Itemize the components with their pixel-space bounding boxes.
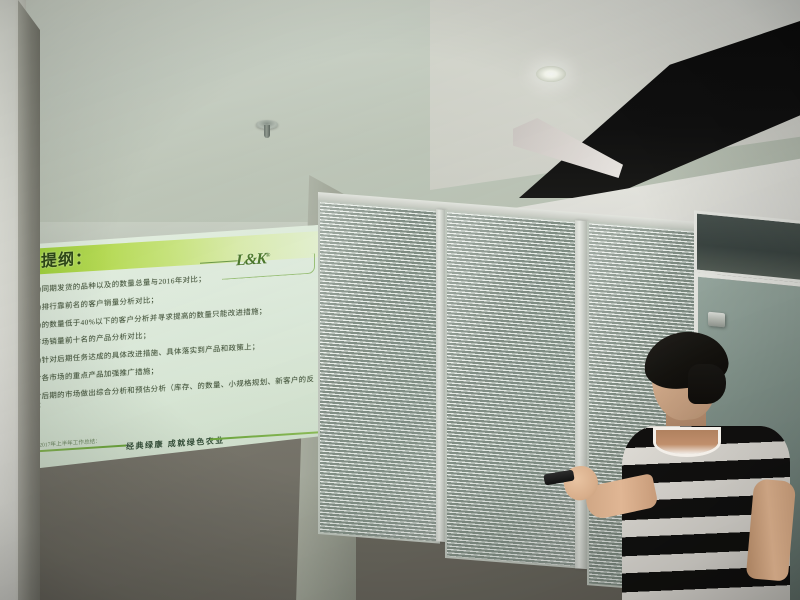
left-wall-pillar-edge <box>18 0 40 600</box>
shirt-collar <box>656 430 718 454</box>
slide-content: 报提纲： L&K® 市场同期发货的品种以及的数量总量与2016年对比； 市场排行… <box>14 225 319 471</box>
glass-panel <box>445 210 579 569</box>
window-mullion <box>575 220 587 569</box>
slide-bullet-list: 市场同期发货的品种以及的数量总量与2016年对比； 市场排行靠前名的客户销量分析… <box>26 267 319 419</box>
person-hair-side <box>688 364 726 404</box>
fire-sprinkler-icon <box>256 120 278 142</box>
registered-mark-icon: ® <box>266 253 269 259</box>
presenter-person <box>600 330 800 600</box>
venetian-blinds[interactable] <box>447 212 577 566</box>
projected-slide: 报提纲： L&K® 市场同期发货的品种以及的数量总量与2016年对比； 市场排行… <box>14 225 319 471</box>
photo-scene: 报提纲： L&K® 市场同期发货的品种以及的数量总量与2016年对比； 市场排行… <box>0 0 800 600</box>
person-right-arm <box>746 478 797 581</box>
lk-logo-text: L&K <box>236 250 266 269</box>
venetian-blinds[interactable] <box>320 202 438 541</box>
glass-panel <box>318 200 440 544</box>
window-mullion <box>436 209 445 542</box>
sprinkler-stem <box>264 125 270 138</box>
recessed-downlight-on <box>536 66 566 82</box>
transom-window <box>694 210 800 283</box>
lk-logo: L&K® <box>236 250 269 270</box>
door-handle[interactable] <box>708 312 725 328</box>
